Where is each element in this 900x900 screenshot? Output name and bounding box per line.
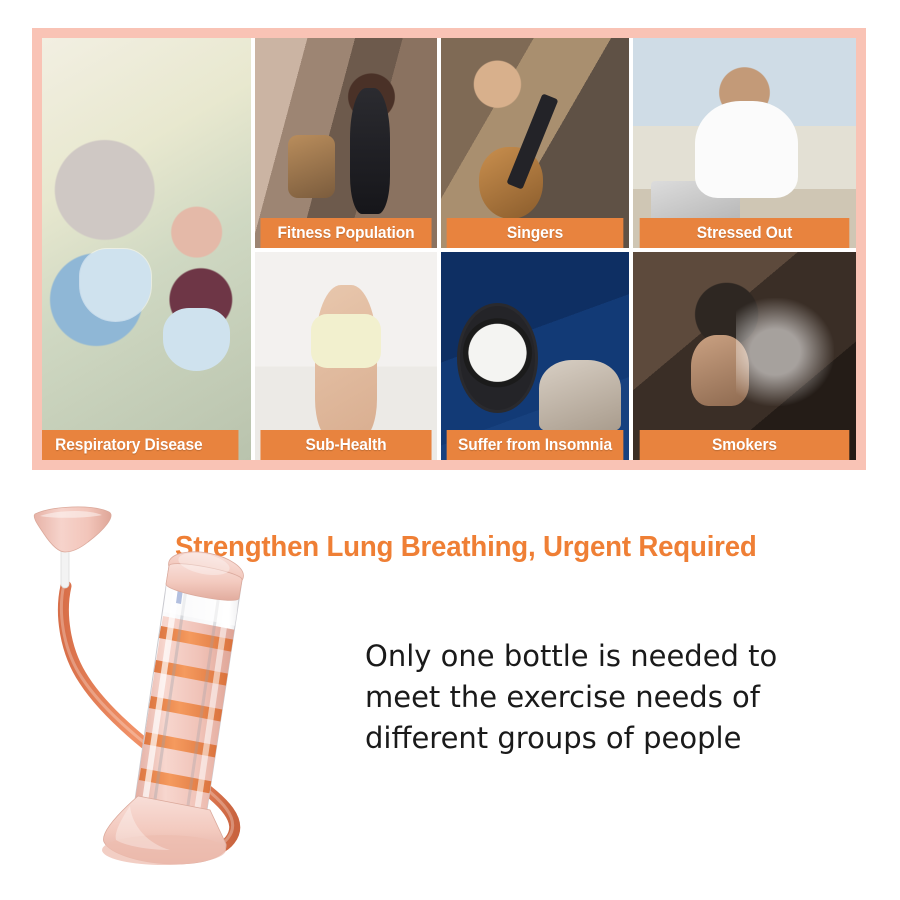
collage-tile-smokers[interactable]: Smokers: [633, 252, 856, 460]
transparent-cylinder: [135, 546, 247, 816]
collage-tile-fitness-population[interactable]: Fitness Population: [255, 38, 437, 248]
photo-stressed-woman-at-laptop: [633, 38, 856, 248]
body-copy: Only one bottle is needed to meet the ex…: [365, 636, 835, 759]
collage-caption-stressed-out: Stressed Out: [640, 218, 850, 248]
collage-tile-stressed-out[interactable]: Stressed Out: [633, 38, 856, 248]
product-image-lung-exerciser: [30, 500, 330, 890]
collage-caption-respiratory-disease: Respiratory Disease: [42, 430, 238, 460]
photo-woman-on-treadmill: [255, 38, 437, 248]
photo-alarm-clock-in-bedroom: [441, 252, 629, 460]
body-copy-line-3: different groups of people: [365, 718, 835, 759]
photo-man-smoking: [633, 252, 856, 460]
collage-caption-insomnia: Suffer from Insomnia: [447, 430, 624, 460]
collage-caption-singers: Singers: [447, 218, 624, 248]
collage-tile-sub-health[interactable]: Sub-Health: [255, 252, 437, 460]
collage-tile-singers[interactable]: Singers: [441, 38, 629, 248]
collage-tile-insomnia[interactable]: Suffer from Insomnia: [441, 252, 629, 460]
photo-elderly-couple-masks: [42, 38, 251, 460]
collage-caption-fitness-population: Fitness Population: [260, 218, 431, 248]
photo-collage-frame: Respiratory Disease Fitness Population S…: [32, 28, 866, 470]
body-copy-line-2: meet the exercise needs of: [365, 677, 835, 718]
mouthpiece-funnel: [34, 507, 111, 588]
photo-woman-measuring-waist: [255, 252, 437, 460]
photo-man-singing-with-guitar: [441, 38, 629, 248]
collage-caption-sub-health: Sub-Health: [260, 430, 431, 460]
collage-tile-respiratory-disease[interactable]: Respiratory Disease: [42, 38, 251, 460]
body-copy-line-1: Only one bottle is needed to: [365, 636, 835, 677]
photo-collage-grid: Respiratory Disease Fitness Population S…: [42, 38, 856, 460]
collage-caption-smokers: Smokers: [640, 430, 850, 460]
